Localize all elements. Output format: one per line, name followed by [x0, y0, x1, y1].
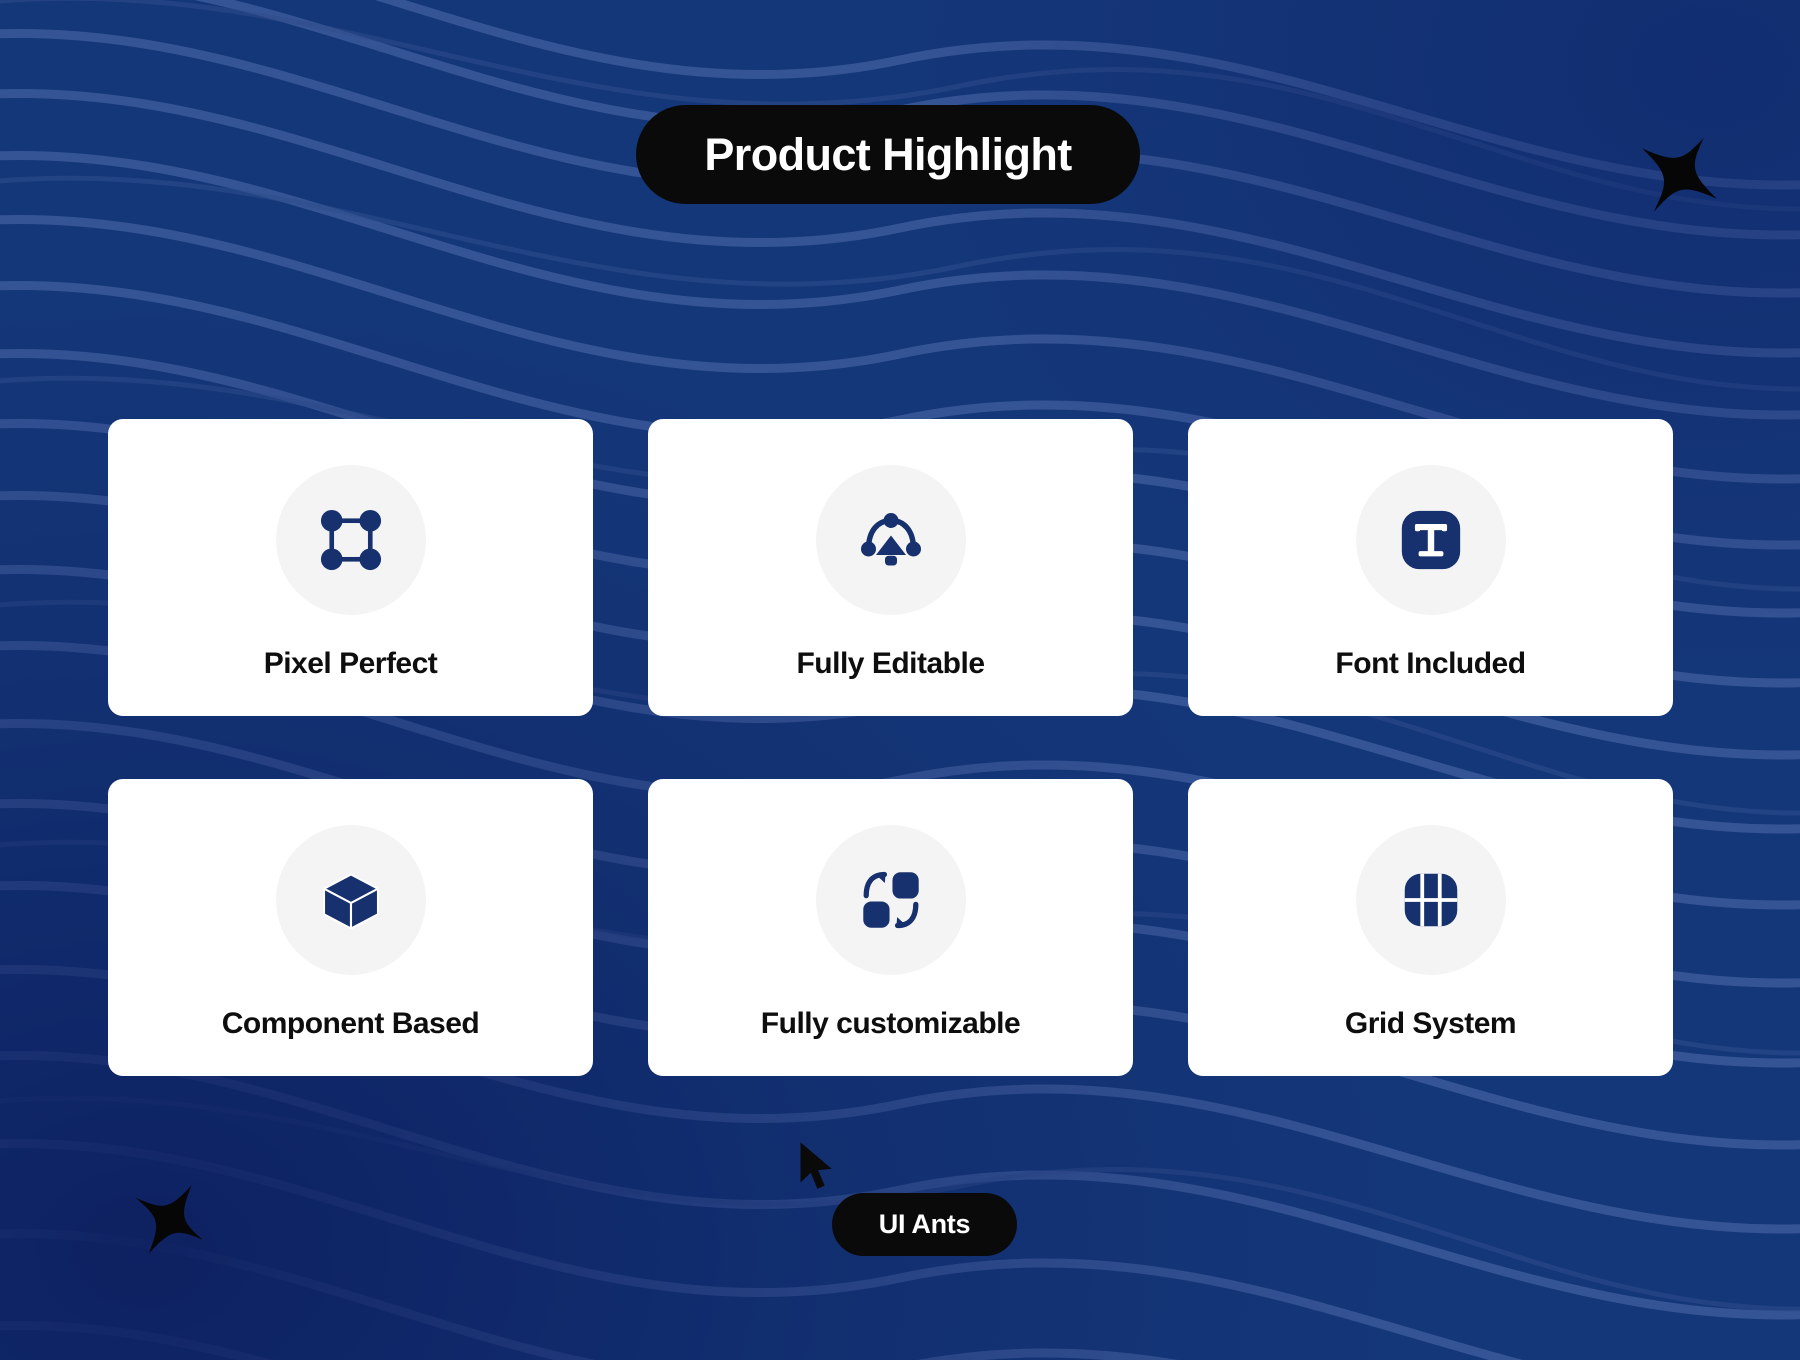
feature-card-label: Pixel Perfect	[264, 647, 438, 681]
feature-card-grid-system[interactable]: Grid System	[1188, 779, 1673, 1076]
feature-card-label: Component Based	[222, 1007, 480, 1041]
pen-tool-icon	[855, 504, 927, 576]
sparkle-star-icon	[1630, 128, 1726, 224]
feature-card-label: Fully customizable	[761, 1007, 1020, 1041]
feature-card-fully-customizable[interactable]: Fully customizable	[648, 779, 1133, 1076]
icon-circle	[816, 465, 966, 615]
feature-card-grid: Pixel Perfect Fully Editable	[108, 419, 1673, 1076]
icon-circle	[276, 465, 426, 615]
grid-layout-icon	[1396, 865, 1466, 935]
cube-3d-icon	[315, 864, 387, 936]
feature-card-label: Fully Editable	[796, 647, 984, 681]
feature-card-font-included[interactable]: Font Included	[1188, 419, 1673, 716]
text-type-icon	[1396, 505, 1466, 575]
swap-blocks-icon	[856, 865, 926, 935]
feature-card-label: Font Included	[1335, 647, 1525, 681]
brand-pill: UI Ants	[832, 1193, 1017, 1256]
page-title-pill: Product Highlight	[636, 105, 1140, 204]
feature-card-pixel-perfect[interactable]: Pixel Perfect	[108, 419, 593, 716]
brand-label: UI Ants	[879, 1209, 970, 1240]
mouse-pointer-icon	[795, 1140, 839, 1196]
icon-circle	[1356, 825, 1506, 975]
sparkle-star-icon	[125, 1175, 211, 1261]
icon-circle	[816, 825, 966, 975]
feature-card-component-based[interactable]: Component Based	[108, 779, 593, 1076]
feature-card-fully-editable[interactable]: Fully Editable	[648, 419, 1133, 716]
icon-circle	[276, 825, 426, 975]
icon-circle	[1356, 465, 1506, 615]
page-title: Product Highlight	[704, 129, 1071, 181]
feature-card-label: Grid System	[1345, 1007, 1516, 1041]
vector-nodes-icon	[314, 503, 388, 577]
